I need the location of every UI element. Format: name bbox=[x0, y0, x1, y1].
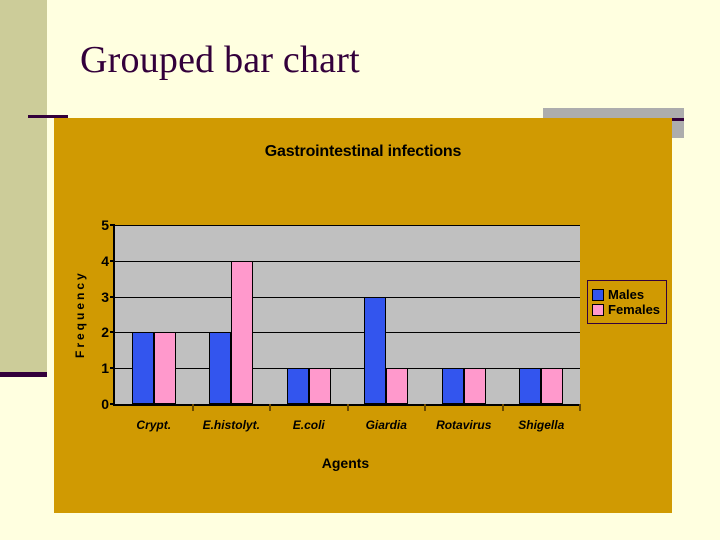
chart-title: Gastrointestinal infections bbox=[54, 143, 672, 161]
chart-legend: Males Females bbox=[587, 280, 667, 324]
decor-left-strip bbox=[0, 0, 47, 372]
x-tick-label: Rotavirus bbox=[425, 418, 503, 432]
x-tick-mark bbox=[502, 404, 504, 411]
bar-males[interactable] bbox=[519, 368, 541, 404]
x-tick-mark bbox=[347, 404, 349, 411]
legend-label-females: Females bbox=[608, 303, 660, 316]
y-tick-label: 0 bbox=[101, 397, 109, 411]
chart-panel: Gastrointestinal infections Frequency 01… bbox=[54, 118, 672, 513]
x-tick-mark bbox=[424, 404, 426, 411]
category-group: Rotavirus bbox=[425, 225, 503, 404]
x-tick-label: E.coli bbox=[270, 418, 348, 432]
y-axis-title: Frequency bbox=[72, 225, 88, 404]
x-tick-label: Shigella bbox=[503, 418, 581, 432]
decor-shadow-bar bbox=[543, 108, 684, 118]
category-group: E.histolyt. bbox=[193, 225, 271, 404]
legend-item-females: Females bbox=[592, 303, 660, 316]
legend-item-males: Males bbox=[592, 288, 660, 301]
x-tick-label: Crypt. bbox=[115, 418, 193, 432]
legend-swatch-icon-females bbox=[592, 304, 604, 316]
x-tick-mark bbox=[579, 404, 581, 411]
category-group: Shigella bbox=[503, 225, 581, 404]
bar-males[interactable] bbox=[287, 368, 309, 404]
legend-label-males: Males bbox=[608, 288, 644, 301]
bar-males[interactable] bbox=[132, 332, 154, 404]
x-tick-mark bbox=[192, 404, 194, 411]
y-tick-label: 4 bbox=[101, 254, 109, 268]
y-tick-label: 3 bbox=[101, 290, 109, 304]
decor-purple-tick bbox=[672, 118, 684, 121]
category-group: Crypt. bbox=[115, 225, 193, 404]
slide: Grouped bar chart Gastrointestinal infec… bbox=[0, 0, 720, 540]
category-group: E.coli bbox=[270, 225, 348, 404]
page-title: Grouped bar chart bbox=[80, 38, 360, 82]
x-tick-label: E.histolyt. bbox=[193, 418, 271, 432]
bar-males[interactable] bbox=[209, 332, 231, 404]
category-group: Giardia bbox=[348, 225, 426, 404]
x-tick-label: Giardia bbox=[348, 418, 426, 432]
x-axis-title: Agents bbox=[113, 455, 578, 471]
y-tick-label: 2 bbox=[101, 325, 109, 339]
bar-males[interactable] bbox=[442, 368, 464, 404]
bar-females[interactable] bbox=[541, 368, 563, 404]
bar-males[interactable] bbox=[364, 297, 386, 404]
x-tick-mark bbox=[269, 404, 271, 411]
bar-females[interactable] bbox=[386, 368, 408, 404]
y-tick-label: 5 bbox=[101, 218, 109, 232]
decor-shadow-tail bbox=[672, 108, 684, 138]
bar-females[interactable] bbox=[309, 368, 331, 404]
bar-females[interactable] bbox=[231, 261, 253, 404]
bar-females[interactable] bbox=[154, 332, 176, 404]
plot-area: 012345Crypt.E.histolyt.E.coliGiardiaRota… bbox=[113, 225, 580, 406]
decor-left-rule bbox=[0, 372, 47, 377]
legend-swatch-icon-males bbox=[592, 289, 604, 301]
y-tick-label: 1 bbox=[101, 361, 109, 375]
bar-females[interactable] bbox=[464, 368, 486, 404]
